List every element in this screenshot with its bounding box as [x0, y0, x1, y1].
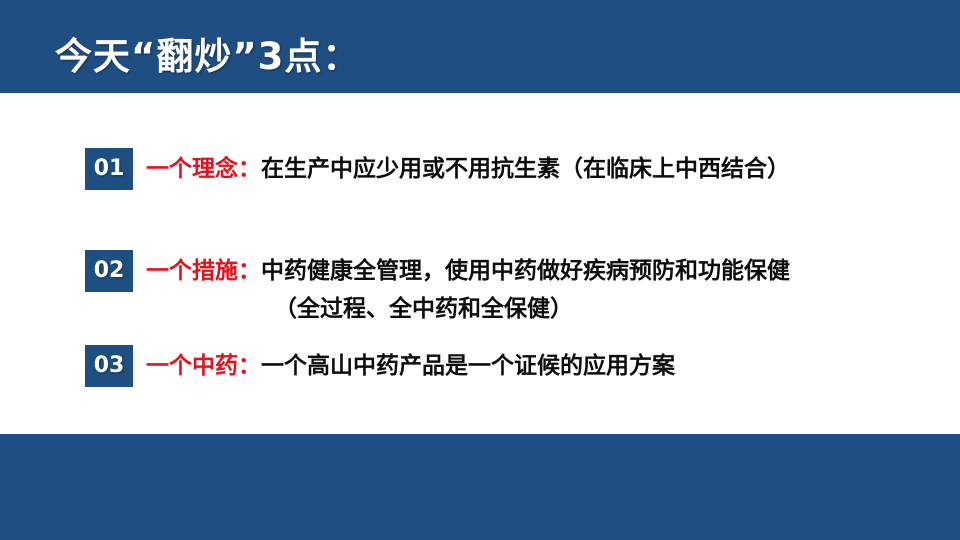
- point-body-02: 中药健康全管理，使用中药做好疾病预防和功能保健: [261, 258, 790, 284]
- point-text-01: 一个理念：在生产中应少用或不用抗生素（在临床上中西结合）: [146, 148, 790, 188]
- slide: 今天“翻炒”3点： 01 一个理念：在生产中应少用或不用抗生素（在临床上中西结合…: [0, 0, 960, 540]
- point-lead-02: 一个措施：: [146, 258, 261, 284]
- page-title: 今天“翻炒”3点：: [55, 26, 360, 80]
- point-row-03: 03 一个中药：一个高山中药产品是一个证候的应用方案: [85, 345, 675, 387]
- point-text-02: 一个措施：中药健康全管理，使用中药做好疾病预防和功能保健 （全过程、全中药和全保…: [146, 250, 790, 328]
- point-line-02b: （全过程、全中药和全保健）: [146, 290, 790, 328]
- point-line-01: 一个理念：在生产中应少用或不用抗生素（在临床上中西结合）: [146, 150, 790, 188]
- point-number-badge-02: 02: [85, 250, 133, 292]
- point-text-03: 一个中药：一个高山中药产品是一个证候的应用方案: [146, 345, 675, 385]
- point-row-01: 01 一个理念：在生产中应少用或不用抗生素（在临床上中西结合）: [85, 148, 790, 190]
- point-line-03: 一个中药：一个高山中药产品是一个证候的应用方案: [146, 347, 675, 385]
- footer-band: [0, 434, 960, 540]
- point-lead-01: 一个理念：: [146, 156, 261, 182]
- point-body-01: 在生产中应少用或不用抗生素（在临床上中西结合）: [261, 156, 790, 182]
- point-line-02: 一个措施：中药健康全管理，使用中药做好疾病预防和功能保健: [146, 252, 790, 290]
- point-number-badge-01: 01: [85, 148, 133, 190]
- content-area: 01 一个理念：在生产中应少用或不用抗生素（在临床上中西结合） 02 一个措施：…: [0, 93, 960, 434]
- point-body-03: 一个高山中药产品是一个证候的应用方案: [261, 353, 675, 379]
- point-row-02: 02 一个措施：中药健康全管理，使用中药做好疾病预防和功能保健 （全过程、全中药…: [85, 250, 790, 328]
- point-lead-03: 一个中药：: [146, 353, 261, 379]
- header-band: 今天“翻炒”3点：: [0, 0, 960, 93]
- point-number-badge-03: 03: [85, 345, 133, 387]
